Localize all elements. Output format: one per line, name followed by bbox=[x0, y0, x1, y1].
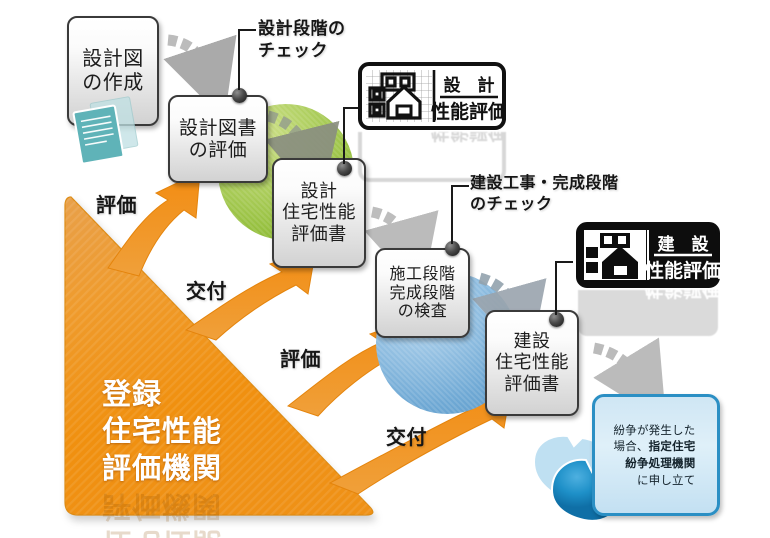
knob-design-stage-check bbox=[232, 88, 247, 103]
box-design-document-evaluation[interactable]: 設計図書 の評価 bbox=[168, 95, 268, 183]
box-design-housing-performance-report[interactable]: 設計 住宅性能 評価書 bbox=[272, 158, 366, 268]
box-construction-inspection[interactable]: 施工段階 完成段階 の検査 bbox=[375, 248, 470, 338]
svg-text:性能評価: 性能評価 bbox=[645, 290, 720, 301]
badge-design-bottom-text: 性能評価 bbox=[431, 100, 506, 123]
stem-design-stage-check bbox=[238, 30, 240, 90]
dispute-line1: 紛争が発生した bbox=[614, 423, 696, 437]
document-stack-icon bbox=[69, 95, 145, 167]
box-inspection-line2: 完成段階 bbox=[389, 284, 455, 303]
box-design-report-line2: 住宅性能 bbox=[282, 202, 356, 223]
badge-construction-bottom-text: 性能評価 bbox=[645, 259, 720, 282]
arrow-construction-report-to-dispute bbox=[594, 348, 641, 382]
dispute-line3-bold: 紛争処理機関 bbox=[625, 456, 695, 470]
dispute-resolution-text: 紛争が発生した 場合、指定住宅 紛争処理機関 に申し立て bbox=[610, 422, 703, 489]
badge-construction-reflection: 性能評価 bbox=[576, 290, 720, 338]
box-construction-report-line1: 建設 bbox=[495, 331, 569, 352]
box-design-report-line3: 評価書 bbox=[282, 224, 356, 245]
arrow-design-report-to-inspection bbox=[372, 212, 409, 248]
badge-design-reflection: 性能評価 bbox=[358, 132, 506, 182]
dispute-line2-plain: 場合、 bbox=[614, 439, 649, 453]
dispute-line4: に申し立て bbox=[637, 473, 696, 487]
box-construction-report-line2: 住宅性能 bbox=[495, 352, 569, 373]
stem-construction-stage-check-h bbox=[451, 185, 469, 187]
badge-design-performance-evaluation: 設 計 性能評価 bbox=[358, 62, 506, 130]
box-construction-housing-performance-report[interactable]: 建設 住宅性能 評価書 bbox=[485, 310, 579, 416]
arrow-drawing-to-eval bbox=[168, 40, 209, 74]
badge-construction-performance-evaluation: 建 設 性能評価 bbox=[576, 222, 720, 288]
box-design-drawing-line2: の作成 bbox=[82, 71, 144, 95]
dispute-line2-bold: 指定住宅 bbox=[649, 439, 696, 453]
svg-text:性能評価: 性能評価 bbox=[431, 132, 506, 144]
callout-design-stage-check: 設計段階の チェック bbox=[258, 18, 346, 62]
stem-construction-badge-v bbox=[555, 262, 557, 315]
box-design-doc-eval-line2: の評価 bbox=[179, 139, 257, 161]
box-inspection-line3: の検査 bbox=[389, 302, 455, 321]
arrow-eval-to-design-report bbox=[268, 116, 309, 158]
box-construction-report-line3: 評価書 bbox=[495, 374, 569, 395]
box-design-report-line1: 設計 bbox=[282, 181, 356, 202]
stem-design-stage-check-h bbox=[238, 29, 256, 31]
badge-design-top-text: 設 計 bbox=[444, 75, 495, 96]
dispute-resolution-box[interactable]: 紛争が発生した 場合、指定住宅 紛争処理機関 に申し立て bbox=[592, 394, 720, 516]
stem-design-badge-v bbox=[343, 108, 345, 164]
badge-construction-top-text: 建 設 bbox=[658, 234, 710, 255]
stem-construction-badge-h bbox=[555, 261, 573, 263]
stem-construction-stage-check-v bbox=[451, 186, 453, 244]
box-design-doc-eval-line1: 設計図書 bbox=[179, 117, 257, 139]
box-inspection-line1: 施工段階 bbox=[389, 265, 455, 284]
diagram-canvas: 登録 住宅性能 評価機関 登録 住宅性能 評価機関 評価 交付 評価 交付 bbox=[0, 0, 770, 538]
box-design-drawing-line1: 設計図 bbox=[82, 47, 144, 71]
